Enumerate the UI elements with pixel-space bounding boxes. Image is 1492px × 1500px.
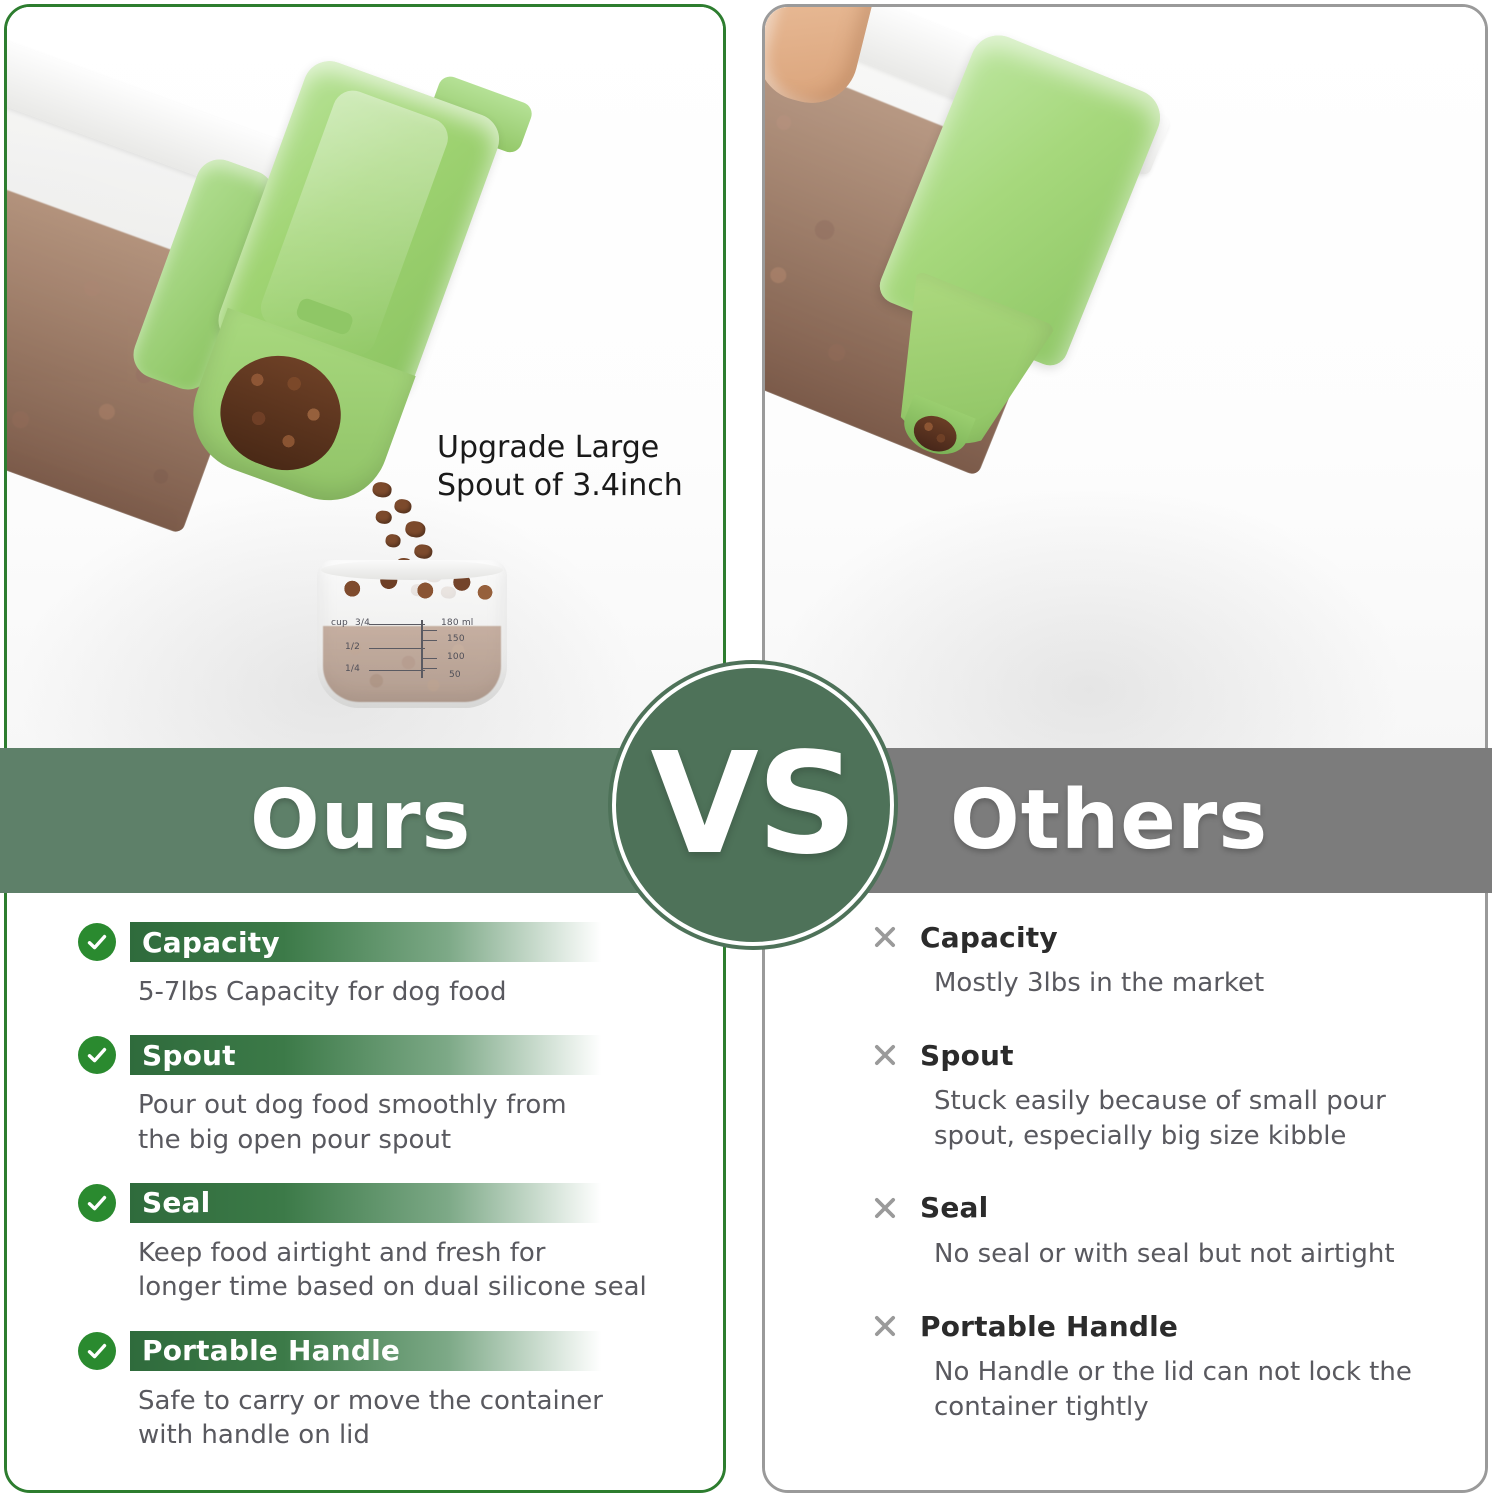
check-icon	[78, 923, 116, 961]
ours-product-photo: cup 3/4 1/2 1/4 180 ml 150 100 50 Upgrad…	[7, 7, 723, 749]
feature-title: Capacity	[142, 926, 280, 959]
feature-title: Spout	[142, 1039, 236, 1072]
others-product-photo: fl oz 6 4 2 3/4 cup 180 ml Small nozzle …	[765, 7, 1485, 749]
cup-unit-right: 180 ml	[441, 618, 474, 628]
feature-description: Safe to carry or move the container with…	[138, 1384, 678, 1453]
feature-item: Seal Keep food airtight and fresh for lo…	[78, 1183, 678, 1305]
banner-label-others: Others	[950, 748, 1268, 893]
feature-description: Mostly 3lbs in the market	[934, 966, 1436, 1000]
feature-header: Capacity	[866, 918, 1436, 956]
feature-item: Spout Stuck easily because of small pour…	[866, 1036, 1436, 1153]
cup-mark-100: 100	[447, 652, 465, 662]
others-feature-list: Capacity Mostly 3lbs in the market Spout…	[866, 918, 1436, 1460]
feature-title-bar: Spout	[920, 1039, 1014, 1072]
vs-badge: VS	[612, 664, 894, 946]
feature-description: Stuck easily because of small pour spout…	[934, 1084, 1436, 1153]
cup-mark-34: 3/4	[355, 618, 370, 628]
feature-title-bar: Capacity	[130, 922, 678, 962]
vs-badge-label: VS	[650, 735, 855, 875]
feature-title-bar: Portable Handle	[130, 1331, 678, 1371]
ours-callout-text: Upgrade Large Spout of 3.4inch	[437, 429, 683, 506]
ours-feature-list: Capacity 5-7lbs Capacity for dog food Sp…	[78, 922, 678, 1452]
feature-title-bar: Seal	[920, 1191, 988, 1224]
cup-shell: cup 3/4 1/2 1/4 180 ml 150 100 50	[317, 560, 507, 708]
feature-item: Portable Handle Safe to carry or move th…	[78, 1331, 678, 1453]
feature-item: Spout Pour out dog food smoothly from th…	[78, 1035, 678, 1157]
feature-description: Pour out dog food smoothly from the big …	[138, 1088, 678, 1157]
feature-header: Capacity	[78, 922, 678, 962]
cross-icon	[866, 918, 904, 956]
cup-mark-12: 1/2	[345, 642, 360, 652]
check-icon	[78, 1332, 116, 1370]
cup-mark-14: 1/4	[345, 664, 360, 674]
feature-title-bar: Capacity	[920, 921, 1058, 954]
feature-header: Spout	[78, 1035, 678, 1075]
feature-title-bar: Spout	[130, 1035, 678, 1075]
check-icon	[78, 1184, 116, 1222]
feature-item: Capacity 5-7lbs Capacity for dog food	[78, 922, 678, 1009]
cup-mark-50: 50	[449, 670, 461, 680]
cup-mark-150: 150	[447, 634, 465, 644]
cross-icon	[866, 1307, 904, 1345]
cup-rim	[321, 560, 503, 580]
feature-description: No seal or with seal but not airtight	[934, 1237, 1436, 1271]
feature-header: Portable Handle	[78, 1331, 678, 1371]
feature-title: Portable Handle	[920, 1310, 1178, 1343]
ours-measuring-cup: cup 3/4 1/2 1/4 180 ml 150 100 50	[317, 560, 507, 708]
feature-item: Capacity Mostly 3lbs in the market	[866, 918, 1436, 1000]
cross-icon	[866, 1036, 904, 1074]
feature-title-bar: Seal	[130, 1183, 678, 1223]
feature-title: Portable Handle	[142, 1334, 400, 1367]
feature-header: Spout	[866, 1036, 1436, 1074]
spout-highlight	[255, 85, 453, 361]
feature-title: Spout	[920, 1039, 1014, 1072]
feature-description: No Handle or the lid can not lock the co…	[934, 1355, 1436, 1424]
feature-header: Seal	[866, 1189, 1436, 1227]
feature-description: 5-7lbs Capacity for dog food	[138, 975, 678, 1009]
feature-title-bar: Portable Handle	[920, 1310, 1178, 1343]
feature-header: Seal	[78, 1183, 678, 1223]
feature-title: Seal	[920, 1191, 988, 1224]
feature-description: Keep food airtight and fresh for longer …	[138, 1236, 678, 1305]
banner-label-ours: Ours	[250, 748, 471, 893]
check-icon	[78, 1036, 116, 1074]
feature-header: Portable Handle	[866, 1307, 1436, 1345]
feature-item: Portable Handle No Handle or the lid can…	[866, 1307, 1436, 1424]
feature-title: Capacity	[920, 921, 1058, 954]
cup-unit-left: cup	[331, 618, 348, 628]
feature-item: Seal No seal or with seal but not airtig…	[866, 1189, 1436, 1271]
feature-title: Seal	[142, 1186, 210, 1219]
cross-icon	[866, 1189, 904, 1227]
